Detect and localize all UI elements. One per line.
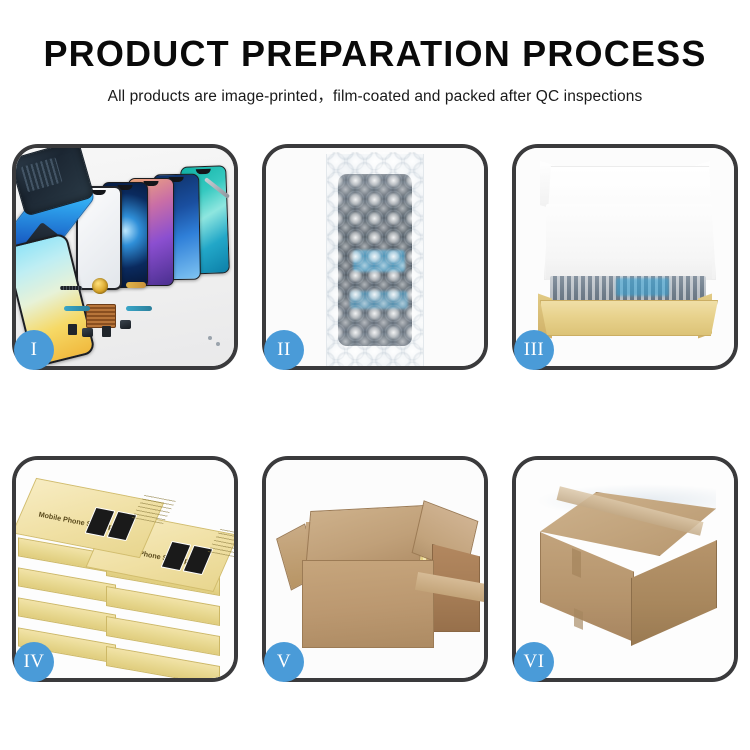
carton-front-wall-icon: [302, 560, 434, 648]
step-image-phone-screens-and-spare-parts: [16, 148, 234, 366]
foam-lining-icon: [546, 204, 712, 280]
component-grid-icon: [86, 304, 116, 328]
bubble-texture-offset-icon: [327, 152, 423, 366]
flex-cable-blue-icon: [64, 306, 90, 311]
speaker-mesh-icon: [60, 286, 82, 290]
wireless-coil-icon: [92, 278, 108, 294]
step-badge-3: III: [514, 330, 554, 370]
carton-seam-bottom-icon: [574, 608, 583, 630]
step-image-sealed-carton: [516, 460, 734, 678]
step-panel-2[interactable]: II: [262, 144, 488, 370]
small-chip-icon: [68, 324, 77, 335]
step-panel-3[interactable]: III: [512, 144, 738, 370]
flex-cable-blue-2-icon: [126, 306, 152, 311]
step-panel-5[interactable]: V: [262, 456, 488, 682]
step-panel-6[interactable]: VI: [512, 456, 738, 682]
step-panel-4[interactable]: Mobile Phone Spare Parts Mobile Phone Sp…: [12, 456, 238, 682]
page-header: PRODUCT PREPARATION PROCESS All products…: [0, 0, 750, 130]
step-panel-1[interactable]: I: [12, 144, 238, 370]
step-badge-6: VI: [514, 642, 554, 682]
step-badge-1: I: [14, 330, 54, 370]
step-image-stacked-retail-boxes: Mobile Phone Spare Parts Mobile Phone Sp…: [16, 460, 234, 678]
camera-module-icon: [120, 320, 131, 329]
small-chip-2-icon: [102, 326, 111, 337]
process-steps-grid: I II III: [12, 144, 738, 682]
step-image-open-carton-filled: [266, 460, 484, 678]
carton-seam-top-icon: [572, 548, 581, 578]
screw-2-icon: [216, 342, 220, 346]
step-image-open-kraft-box-with-foam: [516, 148, 734, 366]
page-subtitle: All products are image-printed，film-coat…: [0, 84, 750, 106]
flex-cable-gold-icon: [126, 282, 146, 288]
step-badge-5: V: [264, 642, 304, 682]
step-badge-2: II: [264, 330, 304, 370]
page-title: PRODUCT PREPARATION PROCESS: [0, 33, 750, 75]
battery-connector-icon: [82, 328, 93, 337]
screw-icon: [208, 336, 212, 340]
step-image-bubble-wrapped-screen: [266, 148, 484, 366]
step-badge-4: IV: [14, 642, 54, 682]
retail-box-stack-icon: Mobile Phone Spare Parts Mobile Phone Sp…: [18, 470, 234, 676]
kraft-box-front-icon: [540, 300, 718, 336]
